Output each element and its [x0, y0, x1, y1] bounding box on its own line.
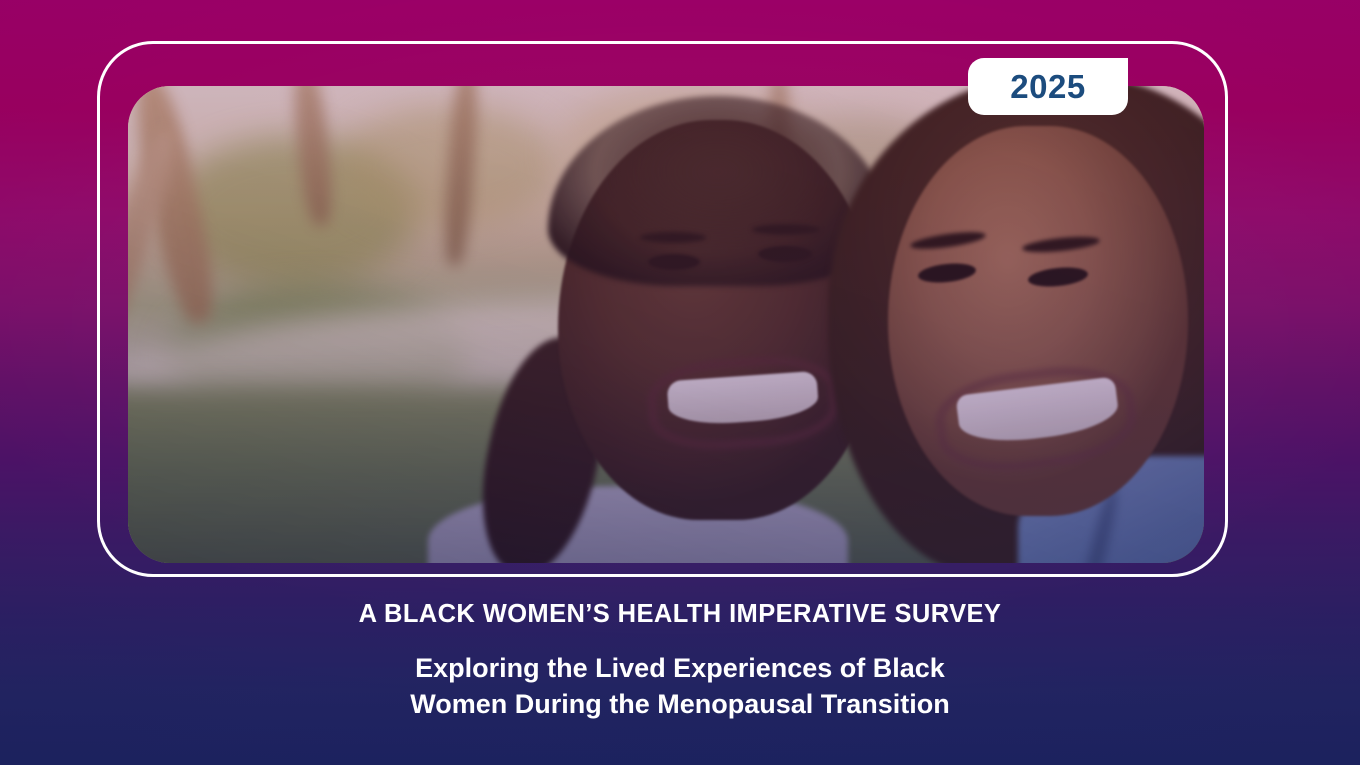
- report-subtitle-line-1: Exploring the Lived Experiences of Black: [0, 650, 1360, 686]
- report-subtitle: Exploring the Lived Experiences of Black…: [0, 650, 1360, 723]
- report-subtitle-line-2: Women During the Menopausal Transition: [0, 686, 1360, 722]
- year-badge-label: 2025: [1010, 70, 1085, 103]
- report-cover: 2025 A BLACK WOMEN’S HEALTH IMPERATIVE S…: [0, 0, 1360, 765]
- photo-duotone-overlay: [128, 86, 1204, 563]
- cover-caption: A BLACK WOMEN’S HEALTH IMPERATIVE SURVEY…: [0, 600, 1360, 723]
- survey-eyebrow-title: A BLACK WOMEN’S HEALTH IMPERATIVE SURVEY: [0, 600, 1360, 628]
- cover-photo: [128, 86, 1204, 563]
- year-badge: 2025: [968, 58, 1128, 115]
